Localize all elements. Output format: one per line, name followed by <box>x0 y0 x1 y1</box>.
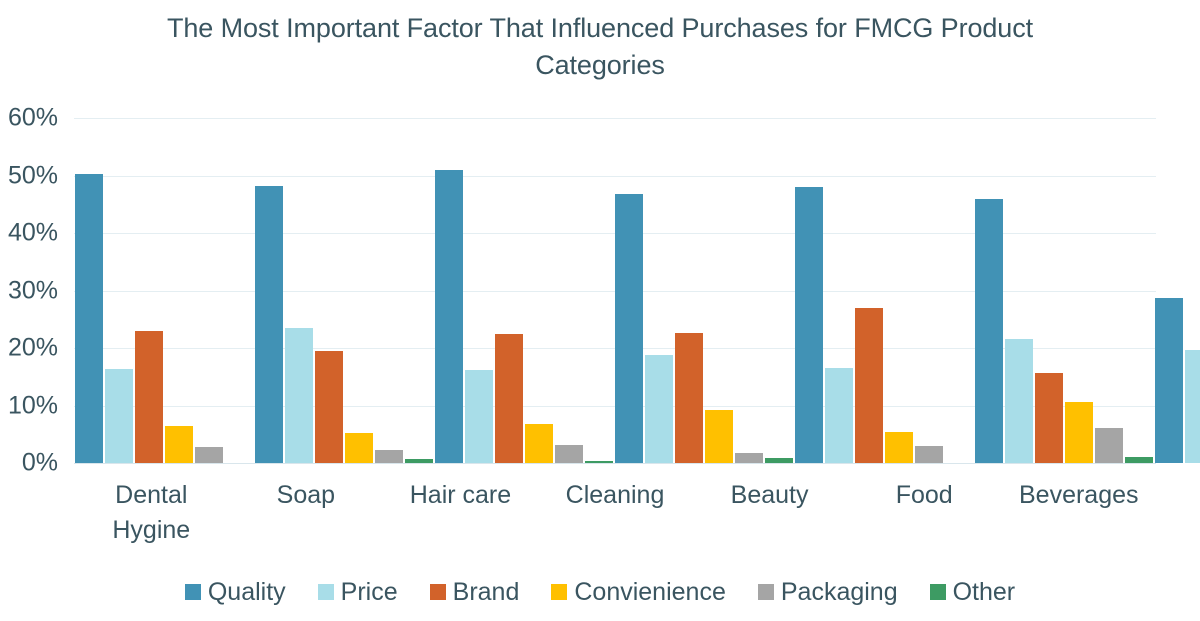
x-axis-tick-line: Cleaning <box>538 478 693 513</box>
bar-slot <box>405 118 433 463</box>
x-axis-tick-line: Dental <box>74 478 229 513</box>
bar-group <box>794 118 974 463</box>
bar-slot <box>1095 118 1123 463</box>
chart-legend: QualityPriceBrandConvieniencePackagingOt… <box>0 578 1200 606</box>
legend-item-packaging[interactable]: Packaging <box>758 578 898 606</box>
legend-swatch-icon <box>185 584 201 600</box>
bar-slot <box>945 118 973 463</box>
bar-slot <box>525 118 553 463</box>
bar-group <box>614 118 794 463</box>
legend-item-quality[interactable]: Quality <box>185 578 286 606</box>
bar[interactable] <box>135 331 163 463</box>
legend-item-convienience[interactable]: Convienience <box>551 578 726 606</box>
bar[interactable] <box>255 186 283 463</box>
bar-slot <box>435 118 463 463</box>
legend-item-price[interactable]: Price <box>318 578 398 606</box>
bar-slot <box>345 118 373 463</box>
bar[interactable] <box>1065 402 1093 463</box>
y-axis-tick-label: 20% <box>8 336 58 361</box>
bar[interactable] <box>705 410 733 463</box>
bar-slot <box>1185 118 1200 463</box>
bar-slot <box>885 118 913 463</box>
bar[interactable] <box>915 446 943 463</box>
x-axis-tick-line: Beverages <box>1001 478 1156 513</box>
legend-label: Packaging <box>781 578 898 606</box>
bar-slot <box>1125 118 1153 463</box>
legend-swatch-icon <box>758 584 774 600</box>
y-axis-tick-label: 60% <box>8 106 58 131</box>
x-axis-tick-label: Beauty <box>692 470 847 560</box>
bar[interactable] <box>105 369 133 463</box>
bar-slot <box>765 118 793 463</box>
x-axis-tick-label: Food <box>847 470 1002 560</box>
bar[interactable] <box>615 194 643 463</box>
bar[interactable] <box>315 351 343 463</box>
bar[interactable] <box>1155 298 1183 463</box>
bar[interactable] <box>1125 457 1153 463</box>
bar[interactable] <box>645 355 673 463</box>
chart-container: The Most Important Factor That Influence… <box>0 0 1200 621</box>
bar[interactable] <box>435 170 463 463</box>
y-axis-tick-label: 40% <box>8 221 58 246</box>
y-axis-tick-label: 0% <box>22 451 58 476</box>
bar-slot <box>975 118 1003 463</box>
bar-slot <box>645 118 673 463</box>
bar[interactable] <box>825 368 853 463</box>
y-axis: 0%10%20%30%40%50%60% <box>0 100 66 480</box>
legend-swatch-icon <box>551 584 567 600</box>
bar-slot <box>855 118 883 463</box>
bar[interactable] <box>285 328 313 463</box>
bar-slot <box>105 118 133 463</box>
bar[interactable] <box>405 459 433 463</box>
bar-slot <box>465 118 493 463</box>
bar-slot <box>75 118 103 463</box>
bar[interactable] <box>375 450 403 463</box>
y-axis-tick-label: 30% <box>8 278 58 303</box>
legend-item-other[interactable]: Other <box>930 578 1016 606</box>
bar[interactable] <box>165 426 193 463</box>
bar-slot <box>375 118 403 463</box>
bar-slot <box>315 118 343 463</box>
bar-group <box>974 118 1154 463</box>
legend-item-brand[interactable]: Brand <box>430 578 520 606</box>
legend-label: Convienience <box>574 578 726 606</box>
x-axis-tick-label: Soap <box>229 470 384 560</box>
bar[interactable] <box>195 447 223 463</box>
bar[interactable] <box>735 453 763 463</box>
x-axis-tick-line: Hygine <box>74 513 229 548</box>
bar[interactable] <box>345 433 373 463</box>
bar[interactable] <box>1005 339 1033 463</box>
bar-slot <box>1065 118 1093 463</box>
x-axis-tick-label: Cleaning <box>538 470 693 560</box>
legend-label: Brand <box>453 578 520 606</box>
bar-slot <box>825 118 853 463</box>
bar-slot <box>285 118 313 463</box>
bar-slot <box>495 118 523 463</box>
x-axis-tick-line: Food <box>847 478 1002 513</box>
bar-slot <box>585 118 613 463</box>
bar[interactable] <box>75 174 103 463</box>
bar-slot <box>195 118 223 463</box>
bar-slot <box>675 118 703 463</box>
legend-swatch-icon <box>430 584 446 600</box>
bar[interactable] <box>1185 350 1200 463</box>
bar-group <box>254 118 434 463</box>
gridline <box>74 463 1156 464</box>
x-axis-tick-label: Hair care <box>383 470 538 560</box>
bar-slot <box>705 118 733 463</box>
bar-slot <box>255 118 283 463</box>
bar-slot <box>225 118 253 463</box>
bar[interactable] <box>465 370 493 463</box>
bar[interactable] <box>855 308 883 463</box>
bar[interactable] <box>885 432 913 463</box>
bar[interactable] <box>585 461 613 463</box>
bar-slot <box>795 118 823 463</box>
bar[interactable] <box>765 458 793 463</box>
bar-slot <box>615 118 643 463</box>
legend-label: Other <box>953 578 1016 606</box>
bar-group <box>1154 118 1200 463</box>
bar-group <box>74 118 254 463</box>
y-axis-tick-label: 10% <box>8 393 58 418</box>
bar-slot <box>135 118 163 463</box>
bar[interactable] <box>1035 373 1063 463</box>
y-axis-tick-label: 50% <box>8 163 58 188</box>
bar[interactable] <box>525 424 553 463</box>
x-axis-tick-line: Soap <box>229 478 384 513</box>
x-axis-tick-line: Hair care <box>383 478 538 513</box>
x-axis-tick-line: Beauty <box>692 478 847 513</box>
bar-slot <box>915 118 943 463</box>
x-axis: DentalHygineSoapHair careCleaningBeautyF… <box>74 470 1156 560</box>
bar[interactable] <box>795 187 823 463</box>
bar-slot <box>1035 118 1063 463</box>
x-axis-tick-label: DentalHygine <box>74 470 229 560</box>
legend-swatch-icon <box>930 584 946 600</box>
bar-slot <box>735 118 763 463</box>
legend-label: Quality <box>208 578 286 606</box>
chart-title: The Most Important Factor That Influence… <box>120 10 1080 84</box>
legend-swatch-icon <box>318 584 334 600</box>
bar[interactable] <box>975 199 1003 464</box>
legend-label: Price <box>341 578 398 606</box>
bar-slot <box>165 118 193 463</box>
bar[interactable] <box>1095 428 1123 463</box>
bar-slot <box>1005 118 1033 463</box>
bar[interactable] <box>555 445 583 463</box>
bar-slot <box>1155 118 1183 463</box>
x-axis-tick-label: Beverages <box>1001 470 1156 560</box>
bar-group <box>434 118 614 463</box>
bar[interactable] <box>495 334 523 463</box>
bar-groups <box>74 118 1156 463</box>
bar-slot <box>555 118 583 463</box>
bar[interactable] <box>675 333 703 463</box>
